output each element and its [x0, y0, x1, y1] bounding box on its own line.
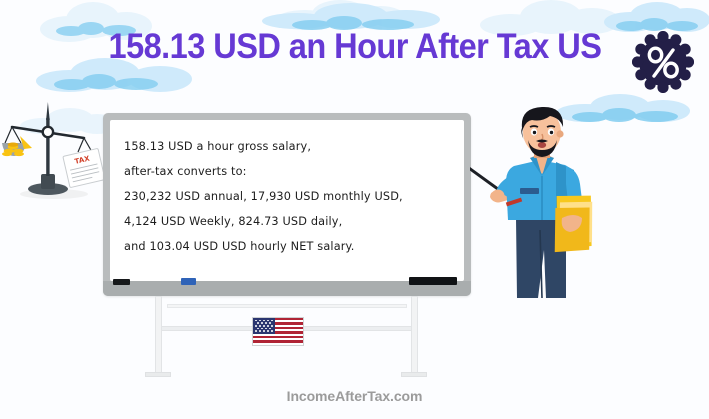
page-title: 158.13 USD an Hour After Tax US: [108, 27, 601, 67]
us-flag-icon: [252, 317, 304, 346]
whiteboard-surface: 158.13 USD a hour gross salary, after-ta…: [110, 120, 464, 281]
title-row: 158.13 USD an Hour After Tax US: [0, 16, 709, 78]
board-line-3: 230,232 USD annual, 17,930 USD monthly U…: [124, 184, 456, 209]
eraser-icon: [113, 279, 130, 285]
pointer-stick-icon: [470, 163, 502, 192]
footer: IncomeAfterTax.com: [0, 388, 709, 406]
balance-scale-icon: TAX: [2, 96, 106, 200]
percent-badge-icon: [632, 31, 694, 93]
board-line-1: 158.13 USD a hour gross salary,: [124, 134, 456, 159]
board-line-2: after-tax converts to:: [124, 159, 456, 184]
whiteboard: 158.13 USD a hour gross salary, after-ta…: [103, 113, 471, 296]
teacher-presenter-icon: [470, 100, 615, 300]
eraser-icon: [409, 277, 457, 285]
board-line-5: and 103.04 USD USD hourly NET salary.: [124, 234, 456, 259]
marker-icon: [181, 278, 196, 285]
board-line-4: 4,124 USD Weekly, 824.73 USD daily,: [124, 209, 456, 234]
infographic-canvas: 158.13 USD an Hour After Tax US: [0, 0, 709, 419]
whiteboard-text: 158.13 USD a hour gross salary, after-ta…: [124, 134, 456, 259]
site-name[interactable]: IncomeAfterTax.com: [287, 388, 423, 404]
